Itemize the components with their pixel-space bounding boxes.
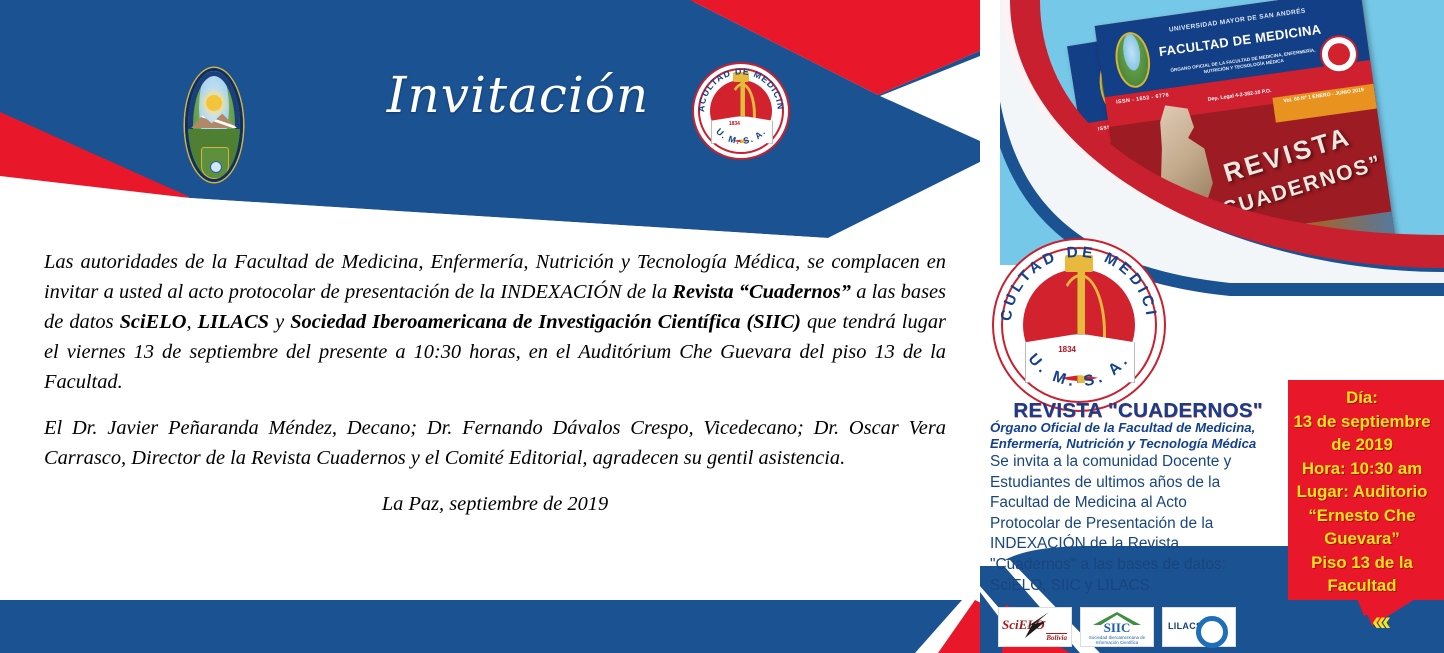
promo-side-panel: ISSN - UNIVERSIDAD MAYOR DE SAN ANDRÉS F… bbox=[980, 0, 1444, 653]
p1-run-5: LILACS bbox=[198, 311, 269, 333]
facultad-medicina-seal: 1834 FACULTAD DE MEDICINA U. M. S. A. bbox=[692, 62, 790, 160]
svg-text:U. M. S. A.: U. M. S. A. bbox=[714, 126, 768, 146]
seal-ring-text: FACULTAD DE MEDICINA U. M. S. A. bbox=[994, 240, 1164, 410]
event-date: 13 de septiembre bbox=[1280, 410, 1444, 434]
scielo-logo-sub: Bolivia bbox=[1046, 633, 1067, 642]
siic-logo-text: SIIC bbox=[1095, 620, 1139, 634]
siic-logo-sub: Sociedad Iberoamericana de Información C… bbox=[1083, 635, 1151, 645]
svg-text:FACULTAD DE MEDICINA: FACULTAD DE MEDICINA bbox=[694, 64, 786, 112]
svg-text:FACULTAD DE MEDICINA: FACULTAD DE MEDICINA bbox=[994, 240, 1160, 322]
scielo-logo[interactable]: SciELO Bolivia bbox=[998, 607, 1072, 647]
p1-run-7: Sociedad Iberoamericana de Investigación… bbox=[290, 311, 801, 333]
event-day-label: Día: bbox=[1280, 386, 1444, 410]
p1-run-4: , bbox=[186, 311, 197, 333]
invitation-paragraph-2: El Dr. Javier Peñaranda Méndez, Decano; … bbox=[44, 413, 946, 473]
event-floor: Piso 13 de la Facultad bbox=[1280, 551, 1444, 598]
event-place: Lugar: Auditorio bbox=[1280, 480, 1444, 504]
organo-oficial-subtitle: Órgano Oficial de la Facultad de Medicin… bbox=[990, 420, 1280, 451]
event-time: Hora: 10:30 am bbox=[1280, 457, 1444, 481]
lilacs-logo[interactable]: LILACS bbox=[1162, 607, 1236, 647]
svg-text:U. M. S. A.: U. M. S. A. bbox=[1024, 351, 1133, 391]
facultad-medicina-seal-large: 1834 FACULTAD DE MEDICINA U. M. S. A. bbox=[992, 238, 1166, 412]
seal-ring-text: FACULTAD DE MEDICINA U. M. S. A. bbox=[694, 64, 788, 158]
invitation-main-panel: Invitación 1834 FACULTAD DE MEDICINA U. … bbox=[0, 0, 1000, 653]
invitation-paragraph-1: Las autoridades de la Facultad de Medici… bbox=[44, 247, 946, 397]
p1-run-6: y bbox=[269, 311, 290, 333]
invitation-body: Las autoridades de la Facultad de Medici… bbox=[44, 247, 946, 535]
invitation-closing: La Paz, septiembre de 2019 bbox=[44, 489, 946, 519]
event-year: de 2019 bbox=[1280, 433, 1444, 457]
chevron-left-icon: ‹‹‹ bbox=[1372, 608, 1387, 635]
umsa-seal-sun bbox=[206, 95, 222, 111]
p1-run-3: SciELO bbox=[120, 311, 187, 333]
page-title: Invitación bbox=[378, 70, 658, 120]
invitation-flyer: Invitación 1834 FACULTAD DE MEDICINA U. … bbox=[0, 0, 1444, 653]
organo-line-2: Enfermería, Nutrición y Tecnología Médic… bbox=[990, 436, 1280, 452]
event-details-text: Día: 13 de septiembre de 2019 Hora: 10:3… bbox=[1280, 386, 1444, 598]
lilacs-ring-icon bbox=[1196, 616, 1228, 648]
umsa-seal-shield bbox=[201, 147, 229, 179]
p1-run-1: Revista “Cuadernos” bbox=[672, 281, 851, 303]
umsa-seal bbox=[185, 68, 243, 182]
organo-line-1: Órgano Oficial de la Facultad de Medicin… bbox=[990, 420, 1280, 436]
invitation-summary-text: Se invita a la comunidad Docente y Estud… bbox=[990, 452, 1250, 596]
event-auditorium: “Ernesto Che Guevara” bbox=[1280, 504, 1444, 551]
siic-logo[interactable]: SIIC Sociedad Iberoamericana de Informac… bbox=[1080, 607, 1154, 647]
